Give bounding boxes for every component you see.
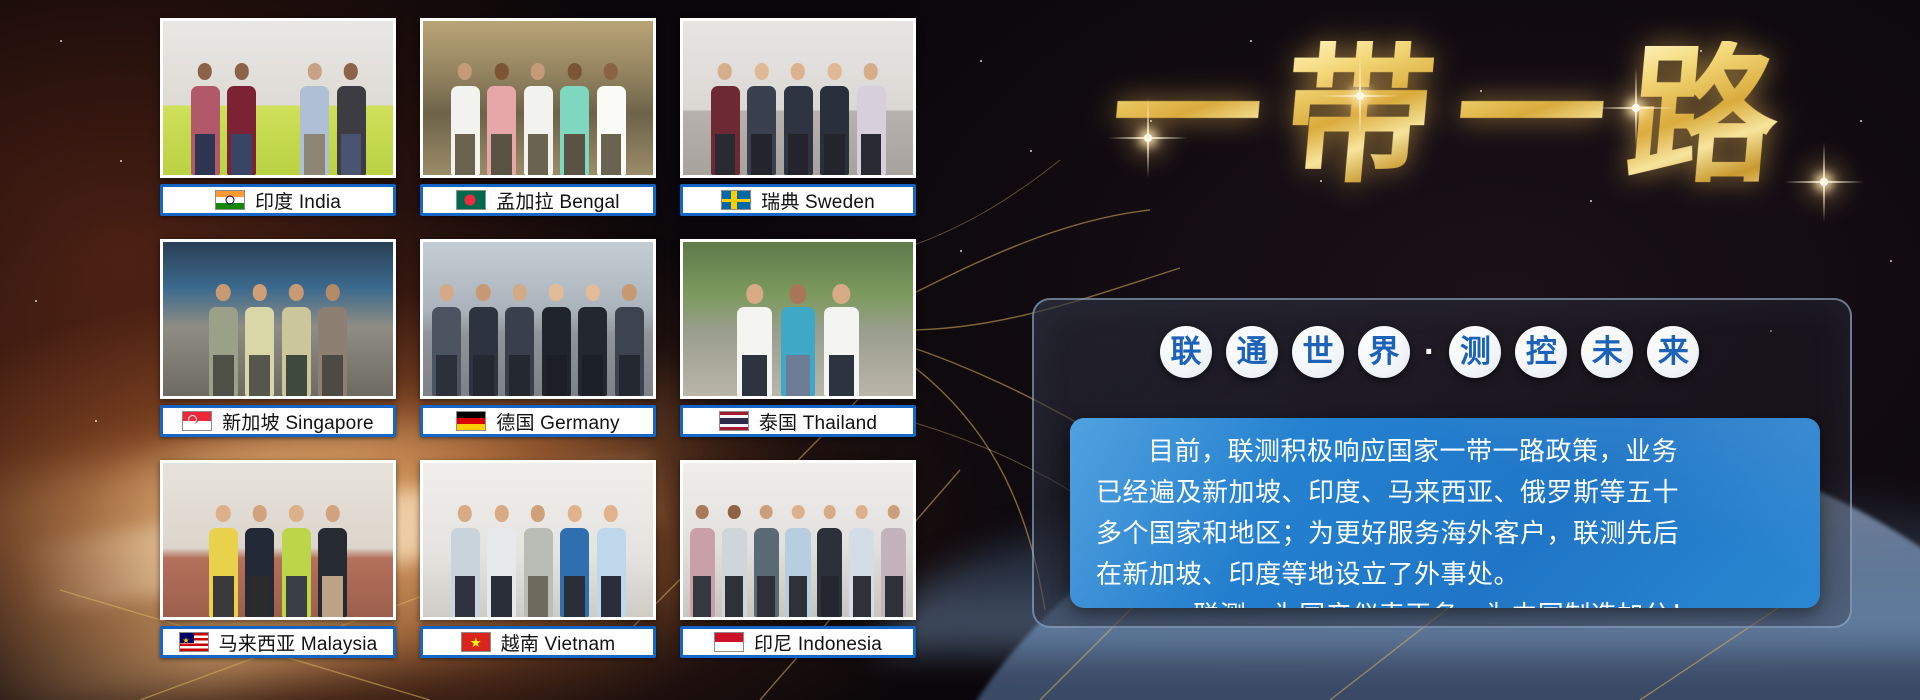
description-box: 目前，联测积极响应国家一带一路政策，业务 已经遍及新加坡、印度、马来西亚、俄罗斯… — [1070, 418, 1820, 608]
country-photo — [420, 239, 656, 399]
country-caption: 印度 India — [160, 184, 396, 216]
india-flag-icon — [215, 190, 245, 210]
bengal-flag-icon — [456, 190, 486, 210]
country-caption: 马来西亚 Malaysia — [160, 626, 396, 658]
country-label: 德国 Germany — [496, 408, 619, 435]
country-photo — [680, 460, 916, 620]
title-char: 一 — [1449, 41, 1612, 191]
slogan-char: 通 — [1226, 326, 1278, 378]
grid-item[interactable]: 瑞典 Sweden — [680, 18, 916, 226]
vietnam-flag-icon — [461, 632, 491, 652]
grid-item[interactable]: 越南 Vietnam — [420, 460, 656, 668]
country-photo — [160, 18, 396, 178]
thailand-flag-icon — [719, 411, 749, 431]
germany-flag-icon — [456, 411, 486, 431]
country-caption: 德国 Germany — [420, 405, 656, 437]
country-photo-grid: 印度 India 孟加拉 Bengal — [160, 18, 920, 682]
country-label: 越南 Vietnam — [501, 629, 616, 656]
slogan-char: 世 — [1292, 326, 1344, 378]
sparkle-icon — [1144, 134, 1152, 142]
title-char: 路 — [1621, 41, 1784, 191]
description-line: 目前，联测积极响应国家一带一路政策，业务 — [1096, 432, 1794, 473]
slogan-row: 联 通 世 界 · 测 控 未 来 — [1160, 326, 1699, 378]
country-caption: 新加坡 Singapore — [160, 405, 396, 437]
grid-item[interactable]: 孟加拉 Bengal — [420, 18, 656, 226]
sweden-flag-icon — [721, 190, 751, 210]
slogan-char: 来 — [1647, 326, 1699, 378]
grid-item[interactable]: 新加坡 Singapore — [160, 239, 396, 447]
description-line: 多个国家和地区；为更好服务海外客户，联测先后 — [1096, 514, 1794, 555]
grid-item[interactable]: 印度 India — [160, 18, 396, 226]
country-label: 新加坡 Singapore — [222, 408, 374, 435]
country-caption: 瑞典 Sweden — [680, 184, 916, 216]
country-photo — [160, 239, 396, 399]
country-label: 泰国 Thailand — [759, 408, 877, 435]
description-line: 已经遍及新加坡、印度、马来西亚、俄罗斯等五十 — [1096, 473, 1794, 514]
slogan-char: 界 — [1358, 326, 1410, 378]
singapore-flag-icon — [182, 411, 212, 431]
title-char: 一 — [1105, 41, 1268, 191]
country-caption: 越南 Vietnam — [420, 626, 656, 658]
description-line: 在新加坡、印度等地设立了外事处。 — [1096, 555, 1794, 596]
banner-stage: 印度 India 孟加拉 Bengal — [0, 0, 1920, 700]
country-caption: 泰国 Thailand — [680, 405, 916, 437]
country-photo — [160, 460, 396, 620]
slogan-char: 控 — [1515, 326, 1567, 378]
country-photo — [420, 460, 656, 620]
slogan-char: 未 — [1581, 326, 1633, 378]
country-label: 瑞典 Sweden — [761, 187, 875, 214]
sparkle-icon — [1632, 104, 1640, 112]
slogan-char: 联 — [1160, 326, 1212, 378]
country-photo — [420, 18, 656, 178]
grid-item[interactable]: 泰国 Thailand — [680, 239, 916, 447]
country-label: 印度 India — [255, 187, 341, 214]
country-label: 孟加拉 Bengal — [496, 187, 619, 214]
slogan-char: 测 — [1449, 326, 1501, 378]
sparkle-icon — [1356, 92, 1364, 100]
country-label: 马来西亚 Malaysia — [219, 629, 378, 656]
sparkle-icon — [1820, 178, 1828, 186]
country-caption: 印尼 Indonesia — [680, 626, 916, 658]
country-photo — [680, 239, 916, 399]
grid-item[interactable]: 德国 Germany — [420, 239, 656, 447]
grid-item[interactable]: 印尼 Indonesia — [680, 460, 916, 668]
country-photo — [680, 18, 916, 178]
grid-item[interactable]: 马来西亚 Malaysia — [160, 460, 396, 668]
description-line: 联测，为国产仪表正名，为中国制造加分！ — [1096, 596, 1794, 608]
country-label: 印尼 Indonesia — [754, 629, 882, 656]
malaysia-flag-icon — [179, 632, 209, 652]
indonesia-flag-icon — [714, 632, 744, 652]
belt-and-road-title: 一 带 一 路 — [1020, 8, 1870, 223]
slogan-separator-dot: · — [1424, 326, 1435, 378]
country-caption: 孟加拉 Bengal — [420, 184, 656, 216]
